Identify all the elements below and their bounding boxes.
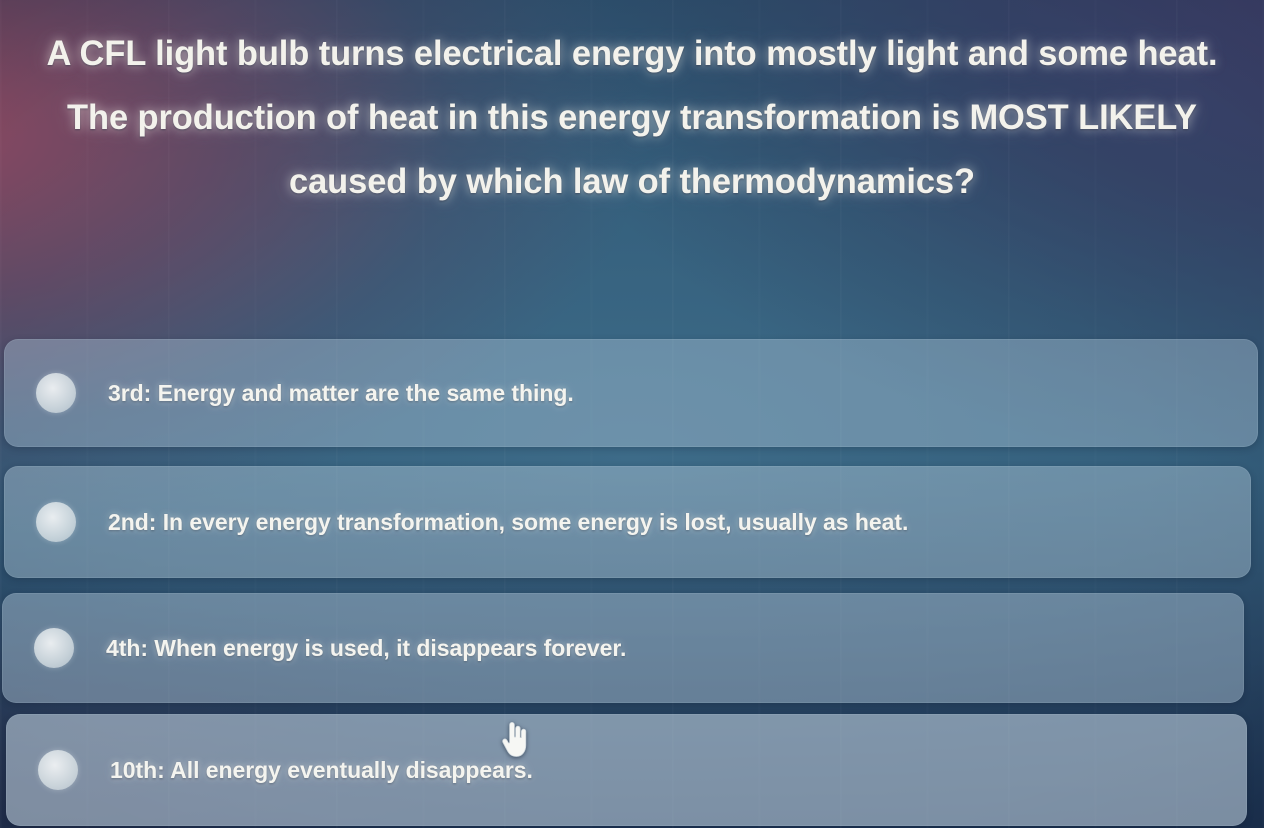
answer-option-3-label: 4th: When energy is used, it disappears … <box>106 635 626 662</box>
answer-option-2-label: 2nd: In every energy transformation, som… <box>108 509 908 536</box>
answer-option-3[interactable]: 4th: When energy is used, it disappears … <box>2 593 1244 703</box>
answer-option-4-label: 10th: All energy eventually disappears. <box>110 757 533 784</box>
radio-button-icon[interactable] <box>38 750 78 790</box>
answer-option-4[interactable]: 10th: All energy eventually disappears. <box>6 714 1247 826</box>
answer-option-1-label: 3rd: Energy and matter are the same thin… <box>108 380 574 407</box>
radio-button-icon[interactable] <box>34 628 74 668</box>
quiz-screen: A CFL light bulb turns electrical energy… <box>0 0 1264 828</box>
radio-button-icon[interactable] <box>36 502 76 542</box>
question-text: A CFL light bulb turns electrical energy… <box>43 22 1221 214</box>
answer-option-1[interactable]: 3rd: Energy and matter are the same thin… <box>4 339 1258 447</box>
radio-button-icon[interactable] <box>36 373 76 413</box>
answer-option-2[interactable]: 2nd: In every energy transformation, som… <box>4 466 1251 578</box>
